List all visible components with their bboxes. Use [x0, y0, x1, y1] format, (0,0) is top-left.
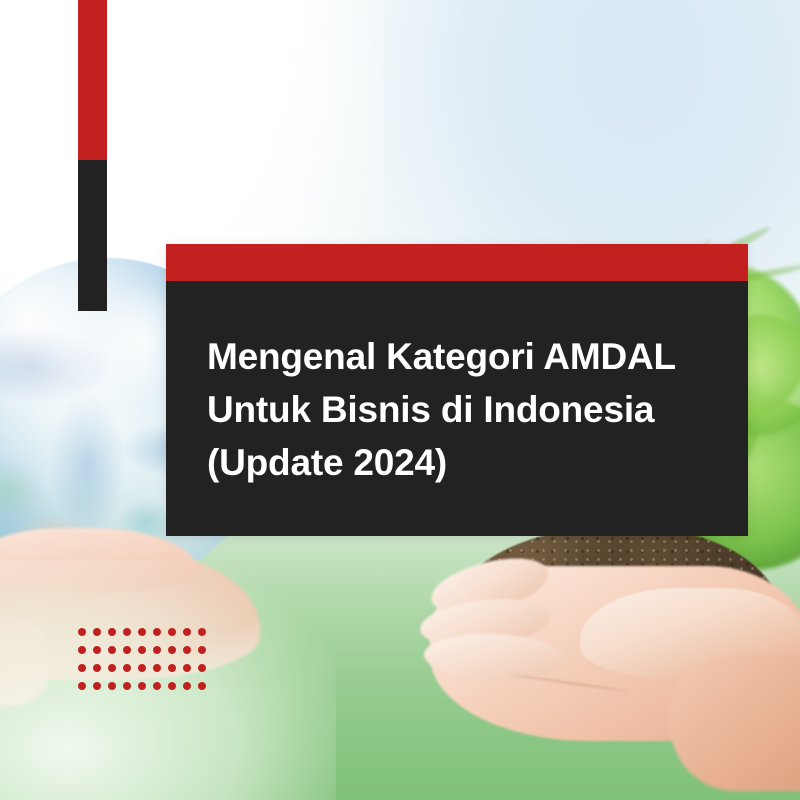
grid-dot — [108, 664, 116, 672]
grid-dot — [93, 628, 101, 636]
grid-dot — [78, 628, 86, 636]
grid-dot — [153, 628, 161, 636]
title-card-red-band — [166, 244, 748, 281]
grid-dot — [198, 628, 206, 636]
grid-dot — [78, 682, 86, 690]
page-title: Mengenal Kategori AMDAL Untuk Bisnis di … — [207, 330, 717, 489]
grid-dot — [198, 646, 206, 654]
grid-dot — [183, 664, 191, 672]
grid-dot — [78, 646, 86, 654]
grid-dot — [168, 664, 176, 672]
grid-dot — [123, 646, 131, 654]
grid-dot — [93, 646, 101, 654]
grid-dot — [123, 628, 131, 636]
page-title-line-1: Mengenal Kategori AMDAL — [207, 330, 717, 383]
page-title-line-2: Untuk Bisnis di Indonesia — [207, 383, 717, 436]
grid-dot — [153, 646, 161, 654]
grid-dot — [93, 664, 101, 672]
grid-dot — [93, 682, 101, 690]
grid-dot — [123, 664, 131, 672]
grid-dot — [138, 646, 146, 654]
accent-bar-black-segment — [78, 160, 107, 311]
grid-dot — [168, 628, 176, 636]
right-hand-wrist — [670, 656, 800, 791]
accent-bar-red-segment — [78, 0, 107, 160]
page-title-line-3: (Update 2024) — [207, 436, 717, 489]
grid-dot — [153, 664, 161, 672]
grid-dot — [78, 664, 86, 672]
indonesia-accent-bar — [78, 0, 107, 311]
grid-dot — [198, 664, 206, 672]
grid-dot — [138, 682, 146, 690]
grid-dot — [108, 628, 116, 636]
grid-dot — [183, 646, 191, 654]
grid-dot — [183, 628, 191, 636]
grid-dot — [108, 682, 116, 690]
hands-holding-soil — [420, 556, 800, 786]
grid-dot — [153, 682, 161, 690]
grid-dot — [138, 664, 146, 672]
grid-dot — [108, 646, 116, 654]
grid-dot — [183, 682, 191, 690]
grid-dot — [168, 682, 176, 690]
grid-dot — [138, 628, 146, 636]
grid-dot — [168, 646, 176, 654]
title-card: Mengenal Kategori AMDAL Untuk Bisnis di … — [166, 244, 748, 536]
poster-canvas: Mengenal Kategori AMDAL Untuk Bisnis di … — [0, 0, 800, 800]
grid-dot — [198, 682, 206, 690]
red-dot-grid — [78, 628, 213, 700]
grid-dot — [123, 682, 131, 690]
